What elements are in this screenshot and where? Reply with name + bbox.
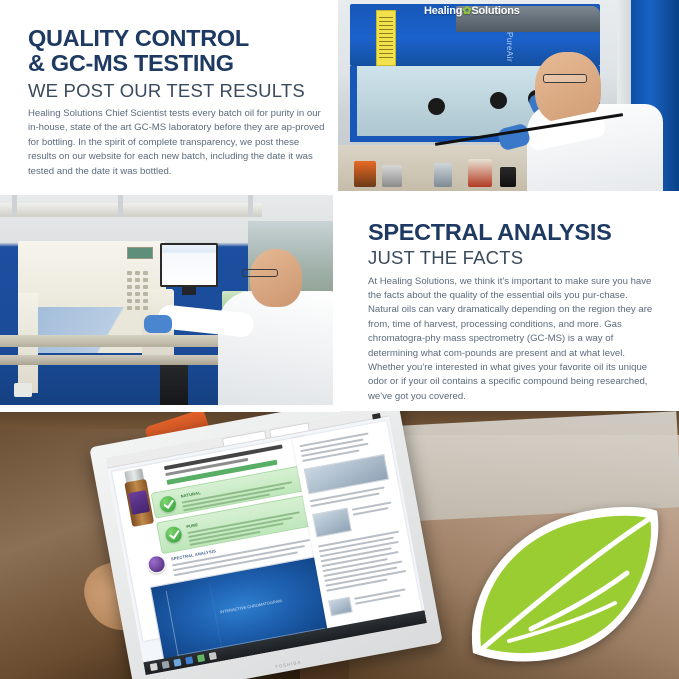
spectral-analysis-heading: SPECTRAL ANALYSIS (368, 220, 658, 245)
instrument-buttons (127, 271, 153, 315)
shelf-support-left (12, 195, 17, 217)
taskbar-app-icon[interactable] (197, 654, 205, 662)
reagent-bottle-1 (354, 161, 376, 187)
device-brand-label: TOSHIBA (275, 660, 302, 670)
brand-seal-icon (146, 554, 167, 575)
bottle-label (128, 490, 150, 515)
monitor-stand (182, 287, 196, 295)
collage-page: QUALITY CONTROL & GC-MS TESTING WE POST … (0, 0, 679, 679)
reagent-bottle-5 (500, 167, 516, 187)
eyeglasses (242, 269, 278, 277)
scientist-head-2 (250, 249, 302, 307)
shelf-support-right (248, 195, 253, 217)
shelf-support-mid (118, 195, 123, 217)
gutter-horizontal-left (0, 405, 340, 412)
fume-hood-photo: Healing✿Solutions PureAir (338, 0, 679, 191)
quality-control-subheading: WE POST OUR TEST RESULTS (28, 80, 328, 101)
tablet-screen[interactable]: NATURAL PURE (105, 411, 426, 675)
taskbar-start-icon[interactable] (150, 663, 158, 671)
check-badge-natural-icon (159, 495, 178, 514)
quality-control-text-block: QUALITY CONTROL & GC-MS TESTING WE POST … (28, 26, 328, 179)
tablet-photo: NATURAL PURE (0, 411, 679, 679)
chart-placeholder-text: INTERACTIVE CHROMATOGRAM (216, 597, 287, 620)
sidebar-thumbnail-2[interactable] (312, 508, 352, 538)
bench-lower-shelf (0, 355, 252, 365)
safety-glasses (543, 74, 587, 83)
reagent-bottle-3 (434, 163, 452, 187)
chart-y-axis (166, 591, 179, 656)
pure-card-label: PURE (186, 522, 199, 529)
bench-surface (0, 335, 252, 347)
quality-control-heading-line1: QUALITY CONTROL (28, 26, 328, 51)
check-badge-pure-icon (164, 525, 183, 544)
leaf-icon (459, 501, 665, 667)
gutter-vertical-top (330, 0, 338, 195)
gutter-vertical-mid (333, 195, 340, 412)
hood-brand-word-solutions: Solutions (471, 5, 519, 17)
instrument-display (127, 247, 153, 259)
wall-outlet (14, 383, 32, 397)
gcms-instrument-photo (0, 195, 340, 411)
monitor-screen-content (162, 245, 216, 285)
taskbar-browser-icon[interactable] (185, 656, 193, 664)
hood-model-label: PureAir (505, 32, 514, 62)
pure-card-line-3 (189, 522, 284, 541)
natural-card-label: NATURAL (180, 490, 201, 499)
gutter-horizontal-right (340, 191, 679, 199)
reagent-bottle-2 (382, 165, 402, 187)
taskbar-mail-icon[interactable] (209, 652, 217, 660)
taskbar-explorer-icon[interactable] (173, 659, 181, 667)
quality-control-heading-line2: & GC-MS TESTING (28, 51, 328, 76)
quality-control-heading: QUALITY CONTROL & GC-MS TESTING (28, 26, 328, 77)
hazard-warning-label (376, 10, 396, 66)
glove-port-left (428, 98, 445, 115)
quality-control-body: Healing Solutions Chief Scientist tests … (28, 107, 328, 179)
hood-brand-word-healing: Healing (424, 5, 462, 17)
workstation-monitor (160, 243, 218, 287)
spectral-analysis-subheading: JUST THE FACTS (368, 247, 658, 268)
scientist-gloved-hand-2 (144, 315, 172, 333)
hood-brand-logo: Healing✿Solutions (424, 4, 520, 17)
leaf-logo (459, 501, 665, 667)
overhead-shelf (0, 203, 262, 217)
reagent-bottle-4 (468, 159, 492, 187)
taskbar-search-icon[interactable] (162, 661, 170, 669)
glove-port-mid (490, 92, 507, 109)
tablet-device[interactable]: NATURAL PURE (89, 411, 442, 679)
spectral-analysis-body: At Healing Solutions, we think it's impo… (368, 275, 658, 405)
spectral-analysis-text-block: SPECTRAL ANALYSIS JUST THE FACTS At Heal… (368, 220, 658, 404)
scientist-lab-coat-2 (218, 291, 340, 411)
sidebar-thumbnail-3[interactable] (328, 597, 353, 617)
